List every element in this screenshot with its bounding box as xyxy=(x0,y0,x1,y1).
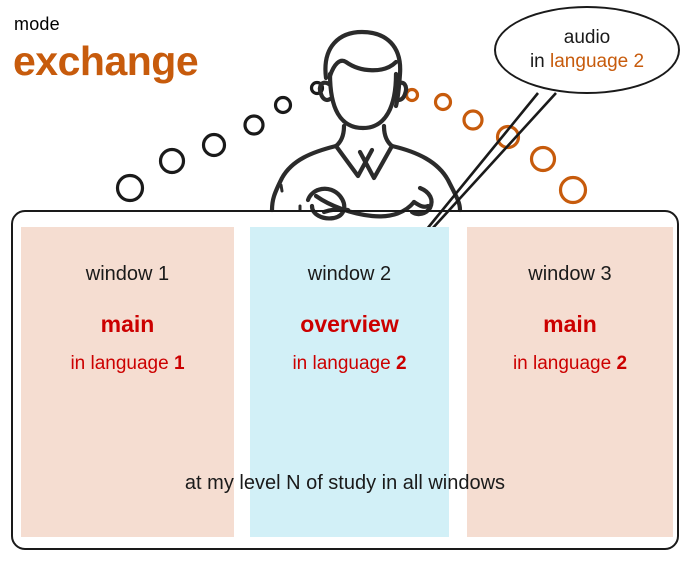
panel-footer-note: at my level N of study in all windows xyxy=(13,472,677,495)
mode-value: exchange xyxy=(13,38,198,85)
window-3-language-prefix: in language xyxy=(513,353,611,374)
speech-bubble: audio in language 2 xyxy=(494,6,680,94)
bubble-line-audio: audio xyxy=(564,26,611,50)
window-2-title: window 2 xyxy=(250,263,449,286)
bubble-language-highlight: language 2 xyxy=(550,51,644,72)
orange-circles-arc xyxy=(407,90,586,203)
window-2-language: in language 2 xyxy=(250,353,449,375)
bubble-in-word: in xyxy=(530,51,545,72)
window-2-kind: overview xyxy=(250,311,449,338)
windows-panel: window 1 main in language 1 window 2 ove… xyxy=(11,210,679,550)
diagram-canvas: mode exchange xyxy=(0,0,694,564)
window-2-language-number: 2 xyxy=(396,353,407,374)
black-circles-arc xyxy=(118,83,323,201)
window-2-language-prefix: in language xyxy=(292,353,390,374)
mode-label: mode xyxy=(14,14,60,35)
window-1-language: in language 1 xyxy=(21,353,234,375)
person-illustration xyxy=(272,32,460,218)
window-1-language-prefix: in language xyxy=(70,353,168,374)
window-3-language: in language 2 xyxy=(467,353,673,375)
window-1-kind: main xyxy=(21,311,234,338)
window-1-language-number: 1 xyxy=(174,353,185,374)
windows-columns: window 1 main in language 1 window 2 ove… xyxy=(13,212,677,548)
bubble-line-language: in language 2 xyxy=(530,50,644,74)
speech-bubble-text: audio in language 2 xyxy=(496,8,678,92)
window-3-language-number: 2 xyxy=(616,353,627,374)
window-3-title: window 3 xyxy=(467,263,673,286)
window-3-kind: main xyxy=(467,311,673,338)
window-1-title: window 1 xyxy=(21,263,234,286)
